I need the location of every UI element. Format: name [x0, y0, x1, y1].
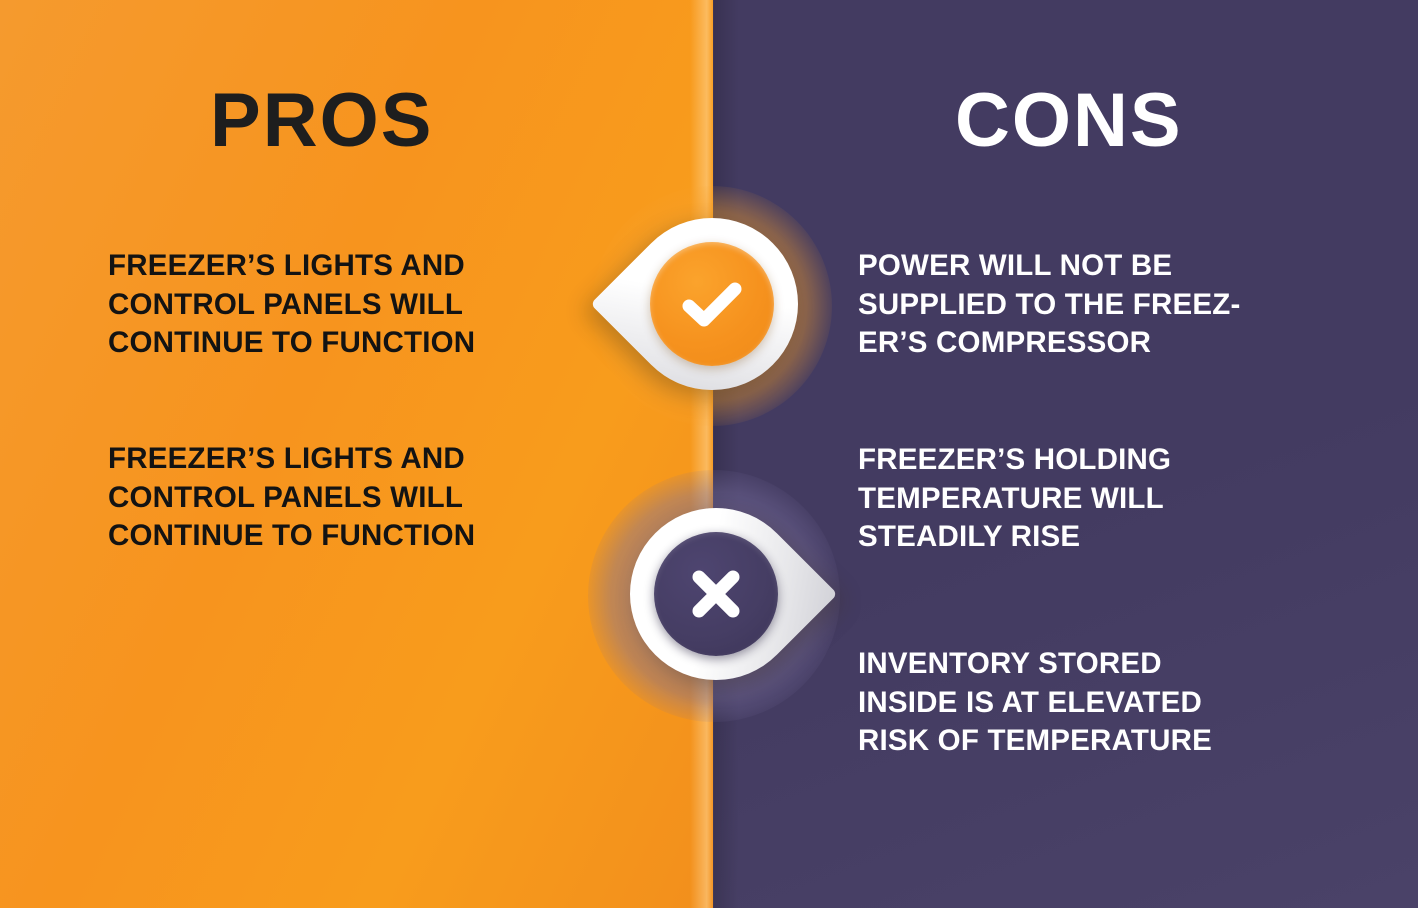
infographic-canvas: PROS CONS FREEZER’S LIGHTS AND CONTROL P…: [0, 0, 1418, 908]
pros-title: PROS: [210, 83, 433, 159]
cross-badge: [630, 508, 802, 680]
cross-icon: [654, 532, 778, 656]
pros-item-1: FREEZER’S LIGHTS AND CONTROL PANELS WILL…: [108, 247, 578, 363]
check-icon: [650, 242, 774, 366]
cons-item-3: INVENTORY STORED INSIDE IS AT ELEVATED R…: [858, 645, 1298, 761]
cons-item-2: FREEZER’S HOLDING TEMPERATURE WILL STEAD…: [858, 441, 1298, 557]
check-badge: [626, 218, 798, 390]
cons-title: CONS: [955, 83, 1183, 159]
pros-item-2: FREEZER’S LIGHTS AND CONTROL PANELS WILL…: [108, 440, 578, 556]
cons-item-1: POWER WILL NOT BE SUPPLIED TO THE FREEZ-…: [858, 247, 1298, 363]
